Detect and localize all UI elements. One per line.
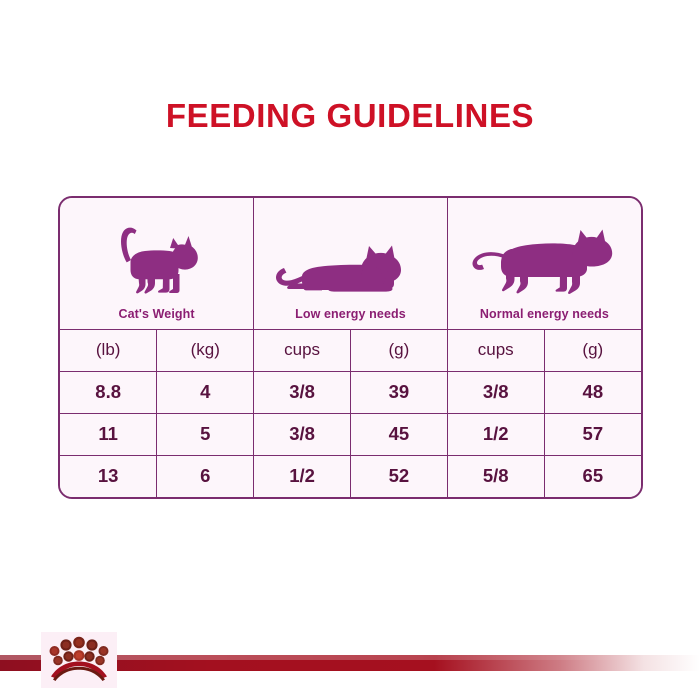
- cell-weight-kg: 5: [157, 413, 254, 455]
- header-label-low-energy: Low energy needs: [295, 307, 406, 321]
- header-cell-cats-weight: Cat's Weight: [60, 198, 254, 329]
- cell-weight-lb: 8.8: [60, 371, 157, 413]
- unit-header-low-cups: cups: [254, 329, 351, 371]
- feeding-guidelines-page: FEEDING GUIDELINES: [0, 0, 700, 700]
- unit-header-lb: (lb): [60, 329, 157, 371]
- header-cell-low-energy: Low energy needs: [254, 198, 448, 329]
- lying-cat-icon: [274, 220, 426, 300]
- cell-normal-cups: 5/8: [447, 455, 544, 497]
- header-label-cats-weight: Cat's Weight: [118, 307, 194, 321]
- header-label-normal-energy: Normal energy needs: [480, 307, 609, 321]
- table-row: 13 6 1/2 52 5/8 65: [60, 455, 641, 497]
- page-title: FEEDING GUIDELINES: [0, 96, 700, 136]
- table-row: 11 5 3/8 45 1/2 57: [60, 413, 641, 455]
- header-cell-normal-energy: Normal energy needs: [447, 198, 641, 329]
- cell-normal-cups: 1/2: [447, 413, 544, 455]
- cell-normal-cups: 3/8: [447, 371, 544, 413]
- walking-cat-icon: [468, 220, 620, 300]
- unit-header-normal-cups: cups: [447, 329, 544, 371]
- table-icon-header-row: Cat's Weight: [60, 198, 641, 329]
- cell-normal-grams: 65: [544, 455, 641, 497]
- cell-low-cups: 1/2: [254, 455, 351, 497]
- unit-header-normal-g: (g): [544, 329, 641, 371]
- unit-header-kg: (kg): [157, 329, 254, 371]
- unit-header-low-g: (g): [350, 329, 447, 371]
- cell-low-grams: 39: [350, 371, 447, 413]
- table-row: 8.8 4 3/8 39 3/8 48: [60, 371, 641, 413]
- cell-low-cups: 3/8: [254, 371, 351, 413]
- cell-low-cups: 3/8: [254, 413, 351, 455]
- cell-weight-lb: 13: [60, 455, 157, 497]
- feeding-guidelines-table-container: Cat's Weight: [58, 196, 643, 499]
- cell-normal-grams: 48: [544, 371, 641, 413]
- cell-low-grams: 45: [350, 413, 447, 455]
- cell-weight-kg: 6: [157, 455, 254, 497]
- table-unit-header-row: (lb) (kg) cups (g) cups (g): [60, 329, 641, 371]
- cell-weight-lb: 11: [60, 413, 157, 455]
- standing-cat-icon: [111, 220, 203, 300]
- cell-low-grams: 52: [350, 455, 447, 497]
- cell-normal-grams: 57: [544, 413, 641, 455]
- feeding-guidelines-table: Cat's Weight: [60, 198, 641, 497]
- royal-canin-crown-logo: [41, 632, 117, 688]
- cell-weight-kg: 4: [157, 371, 254, 413]
